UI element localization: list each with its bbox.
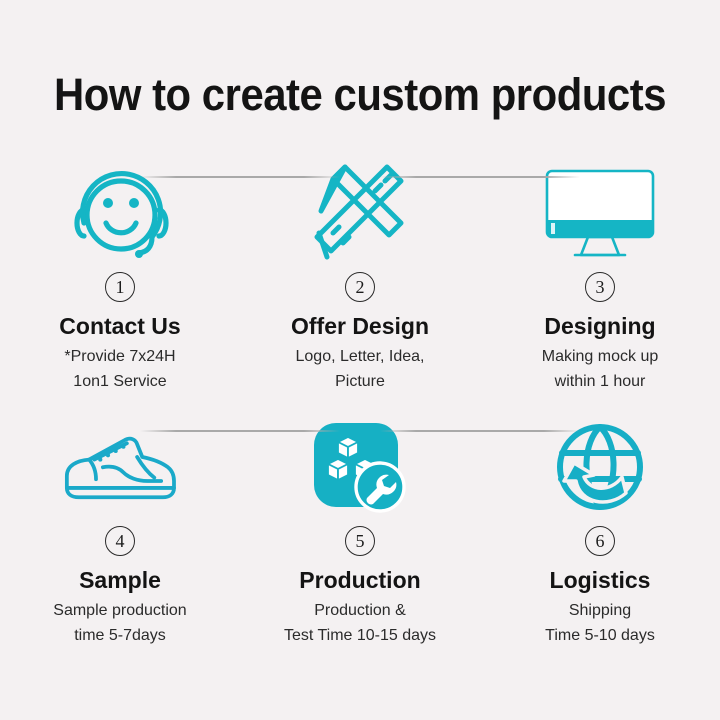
step-description-line1: Logo, Letter, Idea, <box>296 348 425 365</box>
step-heading: Sample <box>79 566 161 594</box>
steps-row-top: 1 Contact Us *Provide 7x24H 1on1 Service <box>0 160 720 410</box>
page-title: How to create custom products <box>25 68 695 122</box>
connector-line-4-5 <box>140 430 340 432</box>
step-marker-row: 5 <box>240 524 480 558</box>
step-number-badge: 6 <box>585 526 615 556</box>
step-marker-row: 1 <box>0 270 240 304</box>
step-description-line2: Picture <box>296 369 425 394</box>
step-description-line2: 1on1 Service <box>64 369 175 394</box>
step-description: Sample production time 5-7days <box>53 598 186 648</box>
step-description: Making mock up within 1 hour <box>542 344 659 394</box>
steps-row-bottom: 4 Sample Sample production time 5-7days <box>0 414 720 664</box>
step-production[interactable]: 5 Production Production & Test Time 10-1… <box>240 414 480 664</box>
step-marker-row: 4 <box>0 524 240 558</box>
step-contact-us[interactable]: 1 Contact Us *Provide 7x24H 1on1 Service <box>0 160 240 410</box>
step-designing[interactable]: 3 Designing Making mock up within 1 hour <box>480 160 720 410</box>
step-heading: Offer Design <box>291 312 429 340</box>
step-marker-row: 6 <box>480 524 720 558</box>
step-sample[interactable]: 4 Sample Sample production time 5-7days <box>0 414 240 664</box>
step-description-line2: time 5-7days <box>53 623 186 648</box>
connector-line-5-6 <box>380 430 580 432</box>
step-marker-row: 2 <box>240 270 480 304</box>
step-number-badge: 1 <box>105 272 135 302</box>
step-description-line1: Sample production <box>53 602 186 619</box>
step-marker-row: 3 <box>480 270 720 304</box>
step-description: Production & Test Time 10-15 days <box>284 598 436 648</box>
step-description-line1: *Provide 7x24H <box>64 348 175 365</box>
step-description: Logo, Letter, Idea, Picture <box>296 344 425 394</box>
step-heading: Designing <box>544 312 655 340</box>
step-offer-design[interactable]: 2 Offer Design Logo, Letter, Idea, Pictu… <box>240 160 480 410</box>
connector-line-1-2 <box>140 176 340 178</box>
steps-grid: 1 Contact Us *Provide 7x24H 1on1 Service <box>0 160 720 664</box>
step-description-line1: Production & <box>314 602 406 619</box>
step-description-line1: Shipping <box>569 602 631 619</box>
step-heading: Contact Us <box>59 312 180 340</box>
step-description-line2: Test Time 10-15 days <box>284 623 436 648</box>
step-heading: Logistics <box>550 566 651 594</box>
infographic-poster: How to create custom products <box>0 0 720 720</box>
connector-line-2-3 <box>380 176 580 178</box>
step-description-line2: within 1 hour <box>542 369 659 394</box>
step-description-line1: Making mock up <box>542 348 659 365</box>
step-logistics[interactable]: 6 Logistics Shipping Time 5-10 days <box>480 414 720 664</box>
step-description: Shipping Time 5-10 days <box>545 598 655 648</box>
step-number-badge: 3 <box>585 272 615 302</box>
step-description: *Provide 7x24H 1on1 Service <box>64 344 175 394</box>
step-number-badge: 4 <box>105 526 135 556</box>
step-number-badge: 5 <box>345 526 375 556</box>
step-heading: Production <box>299 566 420 594</box>
step-number-badge: 2 <box>345 272 375 302</box>
step-description-line2: Time 5-10 days <box>545 623 655 648</box>
